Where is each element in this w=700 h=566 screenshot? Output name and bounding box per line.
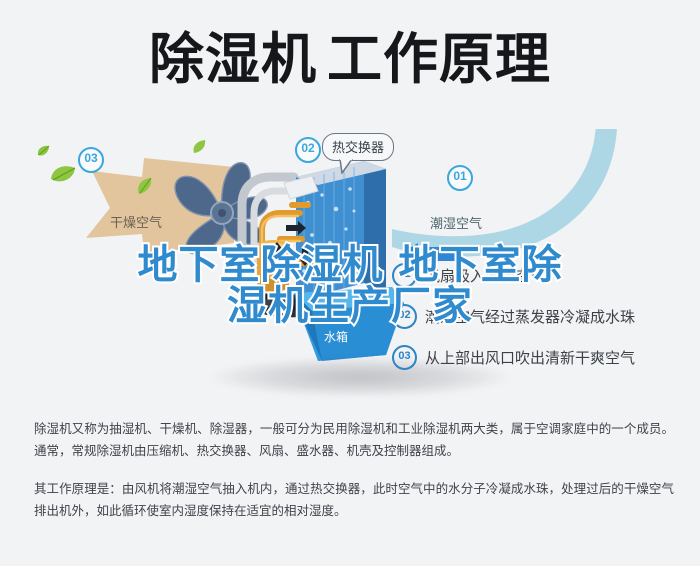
diagram-badge-01: 01 [447,165,473,191]
legend-number-01: 01 [392,263,417,288]
callout-tail-icon [339,159,353,174]
legend-number-02: 02 [392,304,417,329]
legend-label-02: 潮湿空气经过蒸发器冷凝成水珠 [425,306,635,327]
steps-legend: 01 风扇吸入潮湿空气 02 潮湿空气经过蒸发器冷凝成水珠 03 从上部出风口吹… [392,255,692,378]
paragraph-definition: 除湿机又称为抽湿机、干燥机、除湿器，一般可分为民用除湿机和工业除湿机两大类，属于… [34,418,674,462]
diagram-badge-02: 02 [295,137,321,163]
legend-number-03: 03 [392,345,417,370]
legend-label-01: 风扇吸入潮湿空气 [425,265,545,286]
legend-item-03: 03 从上部出风口吹出清新干爽空气 [392,337,692,378]
diagram-badge-03: 03 [78,147,104,173]
legend-label-03: 从上部出风口吹出清新干爽空气 [425,347,635,368]
leaf-icon [136,177,152,200]
infographic-page: 除湿机工作原理 [0,0,700,566]
label-humid-air: 潮湿空气 [430,213,482,232]
label-dry-air: 干燥空气 [110,212,162,231]
legend-item-02: 02 潮湿空气经过蒸发器冷凝成水珠 [392,296,692,337]
body-copy: 除湿机又称为抽湿机、干燥机、除湿器，一般可分为民用除湿机和工业除湿机两大类，属于… [34,418,674,538]
water-tank-icon [288,285,408,365]
leaf-icon [36,145,50,164]
title-segment-primary: 除湿机 [149,27,317,91]
heat-exchanger-callout: 热交换器 [322,133,394,161]
leaf-icon [192,139,206,159]
heat-exchanger-callout-text: 热交换器 [332,141,384,156]
paragraph-principle: 其工作原理是：由风机将潮湿空气抽入机内，通过热交换器，此时空气中的水分子冷凝成水… [34,478,674,522]
title-segment-secondary: 工作原理 [327,27,551,91]
humid-air-swoosh-icon [392,129,622,259]
page-title: 除湿机工作原理 [0,28,700,90]
leaf-icon [50,165,76,190]
legend-item-01: 01 风扇吸入潮湿空气 [392,255,692,296]
label-water-tank: 水箱 [324,328,348,345]
